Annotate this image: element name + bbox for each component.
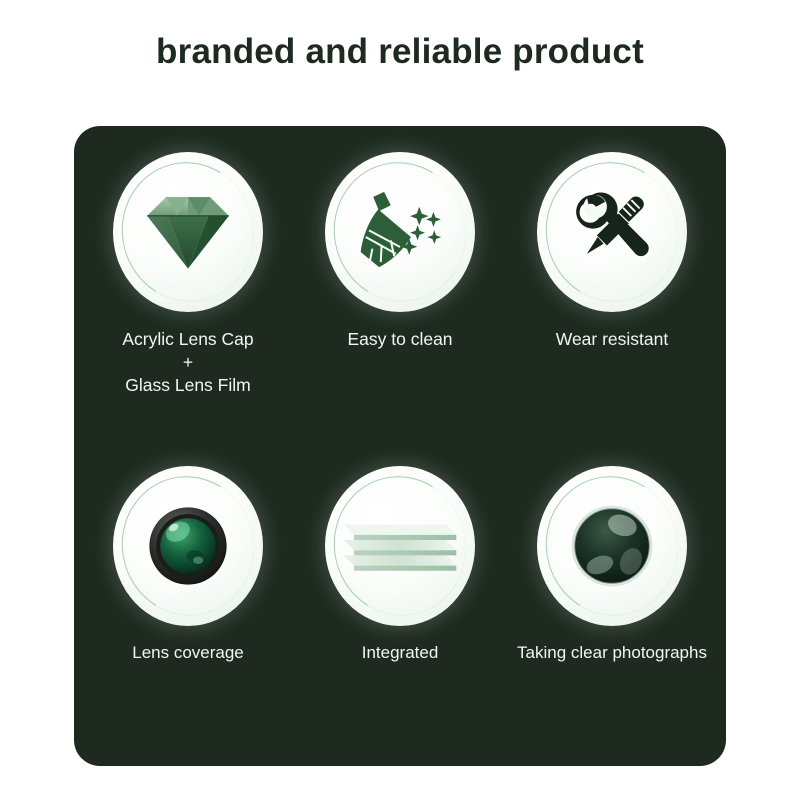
feature-label: Acrylic Lens Cap + Glass Lens Film <box>120 328 255 397</box>
feature-label: Easy to clean <box>345 328 454 351</box>
features-panel: Acrylic Lens Cap + Glass Lens Film <box>74 126 726 766</box>
feature-item-lens-coverage: Lens coverage <box>82 452 294 752</box>
feature-badge <box>113 466 263 626</box>
glass-layers-icon <box>340 511 460 581</box>
page-title: branded and reliable product <box>0 32 800 72</box>
feature-item-easy-to-clean: Easy to clean <box>294 152 506 452</box>
feature-label: Lens coverage <box>130 642 246 664</box>
feature-item-integrated: Integrated <box>294 452 506 752</box>
product-feature-infographic: branded and reliable product <box>0 0 800 800</box>
feature-item-taking-clear-photographs: Taking clear photographs <box>506 452 718 752</box>
glass-dome-icon <box>569 503 655 589</box>
camera-lens-icon <box>146 504 230 588</box>
feature-badge <box>113 152 263 312</box>
feature-badge <box>325 152 475 312</box>
feature-badge <box>537 466 687 626</box>
feature-item-wear-resistant: Wear resistant <box>506 152 718 452</box>
feature-label: Integrated <box>360 642 441 664</box>
feature-badge <box>325 466 475 626</box>
broom-sparkle-icon <box>354 190 446 274</box>
feature-item-acrylic-lens-cap: Acrylic Lens Cap + Glass Lens Film <box>82 152 294 452</box>
feature-label: Taking clear photographs <box>515 642 709 664</box>
features-grid: Acrylic Lens Cap + Glass Lens Film <box>74 126 726 766</box>
diamond-gem-icon <box>145 192 231 272</box>
feature-badge <box>537 152 687 312</box>
feature-label: Wear resistant <box>554 328 671 351</box>
wrench-screwdriver-icon <box>569 190 655 274</box>
